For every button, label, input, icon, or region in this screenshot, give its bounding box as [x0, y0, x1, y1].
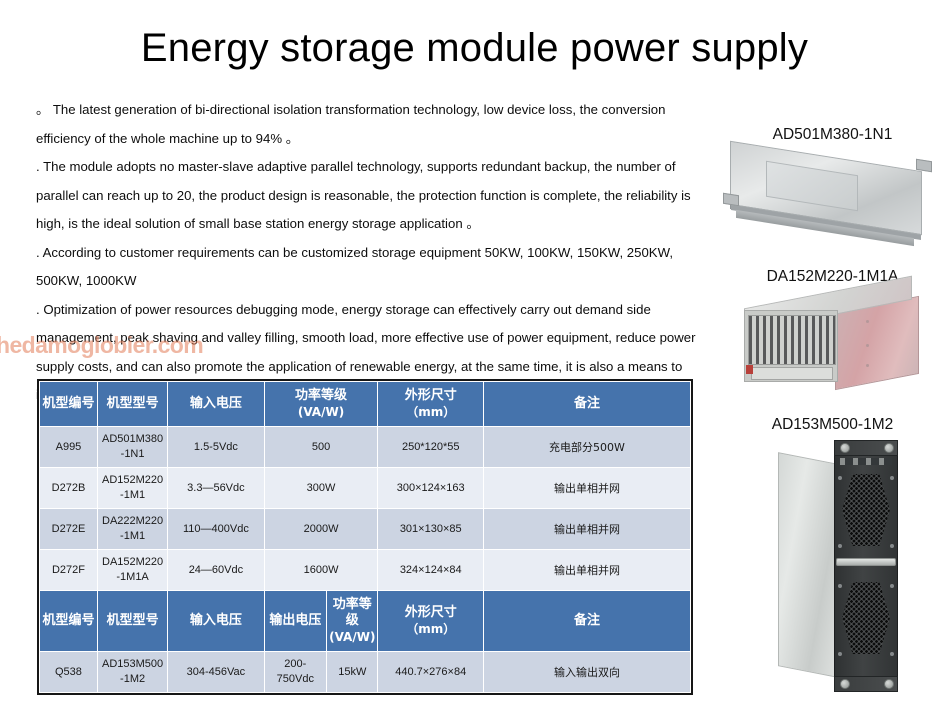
flat-silver-chassis-photo — [722, 148, 932, 248]
chassis-mount-tab-right — [916, 159, 932, 173]
cell-power-level: 300W — [264, 468, 378, 509]
cell-power-level: 1600W — [264, 550, 378, 591]
cell-remarks: 输入输出双向 — [483, 652, 690, 693]
header1-input-voltage: 输入电压 — [168, 382, 264, 427]
cell-power-level: 500 — [264, 427, 378, 468]
header2-power-level: 功率等级 (VA/W) — [327, 591, 378, 652]
paragraph-2: . The module adopts no master-slave adap… — [36, 153, 708, 239]
table-row: D272E DA222M220-1M1 110—400Vdc 2000W 301… — [40, 509, 691, 550]
header1-power-level-unit: (VA/W) — [267, 404, 376, 420]
panel-rivet — [890, 544, 894, 548]
panel-rivet — [838, 652, 842, 656]
module-screw — [866, 344, 869, 347]
cell-model-no: D272B — [40, 468, 98, 509]
paragraph-3: . According to customer requirements can… — [36, 239, 708, 296]
header2-model-type: 机型型号 — [97, 591, 167, 652]
cell-input-voltage: 110—400Vdc — [168, 509, 264, 550]
panel-rivet — [838, 544, 842, 548]
cell-dimensions: 250*120*55 — [378, 427, 483, 468]
cell-remarks: 输出单相并网 — [483, 468, 690, 509]
cell-dimensions: 440.7×276×84 — [378, 652, 483, 693]
panel-screw — [840, 679, 850, 689]
cell-model-no: A995 — [40, 427, 98, 468]
table-row: A995 AD501M380-1N1 1.5-5Vdc 500 250*120*… — [40, 427, 691, 468]
cell-remarks: 输出单相并网 — [483, 509, 690, 550]
table-header-row-1: 机型编号 机型型号 输入电压 功率等级 (VA/W) 外形尺寸 （mm） 备注 — [40, 382, 691, 427]
panel-rivet — [890, 652, 894, 656]
cell-power-level: 2000W — [264, 509, 378, 550]
tall-fan-module-photo — [778, 440, 946, 692]
status-led-strip — [840, 458, 892, 465]
panel-rivet — [838, 584, 842, 588]
product-label-1: AD501M380-1N1 — [718, 126, 947, 144]
ventilation-grille-icon — [748, 315, 836, 365]
header2-power-level-unit: (VA/W) — [329, 629, 375, 645]
cell-dimensions: 324×124×84 — [378, 550, 483, 591]
page-title: Energy storage module power supply — [0, 26, 949, 71]
cell-output-voltage: 200-750Vdc — [264, 652, 326, 693]
cell-model-type: DA152M220-1M1A — [97, 550, 167, 591]
module-screw — [866, 364, 869, 367]
cell-input-voltage: 24—60Vdc — [168, 550, 264, 591]
header2-output-voltage: 输出电压 — [264, 591, 326, 652]
cell-model-type: AD152M220-1M1 — [97, 468, 167, 509]
cell-model-no: Q538 — [40, 652, 98, 693]
panel-rivet — [890, 584, 894, 588]
table-row: D272F DA152M220-1M1A 24—60Vdc 1600W 324×… — [40, 550, 691, 591]
cell-power-level: 15kW — [327, 652, 378, 693]
header2-model-no: 机型编号 — [40, 591, 98, 652]
header1-power-level: 功率等级 (VA/W) — [264, 382, 378, 427]
header1-remarks: 备注 — [483, 382, 690, 427]
cell-input-voltage: 304-456Vac — [168, 652, 264, 693]
slide-page: Energy storage module power supply 。 The… — [0, 0, 949, 708]
header1-model-no: 机型编号 — [40, 382, 98, 427]
cell-remarks: 充电部分500W — [483, 427, 690, 468]
spec-table-frame: 机型编号 机型型号 输入电压 功率等级 (VA/W) 外形尺寸 （mm） 备注 … — [37, 379, 693, 695]
module-pull-handle — [836, 558, 896, 566]
cell-dimensions: 300×124×163 — [378, 468, 483, 509]
header2-dimensions-main: 外形尺寸 — [405, 605, 457, 620]
header1-dimensions-main: 外形尺寸 — [405, 388, 457, 403]
cell-model-type: AD501M380-1N1 — [97, 427, 167, 468]
header1-dimensions: 外形尺寸 （mm） — [378, 382, 483, 427]
table-row: D272B AD152M220-1M1 3.3—56Vdc 300W 300×1… — [40, 468, 691, 509]
header2-power-level-main: 功率等级 — [333, 597, 372, 628]
cell-dimensions: 301×130×85 — [378, 509, 483, 550]
header2-dimensions: 外形尺寸 （mm） — [378, 591, 483, 652]
paragraph-1: 。 The latest generation of bi-directiona… — [36, 96, 708, 153]
cell-model-no: D272F — [40, 550, 98, 591]
header2-dimensions-unit: （mm） — [380, 621, 480, 637]
spec-table: 机型编号 机型型号 输入电压 功率等级 (VA/W) 外形尺寸 （mm） 备注 … — [39, 381, 691, 693]
cell-remarks: 输出单相并网 — [483, 550, 690, 591]
module-connector-slot — [751, 367, 833, 380]
cell-model-type: AD153M500-1M2 — [97, 652, 167, 693]
module-screw — [866, 320, 869, 323]
panel-screw — [884, 679, 894, 689]
body-copy: 。 The latest generation of bi-directiona… — [36, 96, 708, 410]
product-label-2: DA152M220-1M1A — [718, 268, 947, 286]
cell-model-no: D272E — [40, 509, 98, 550]
table-header-row-2: 机型编号 机型型号 输入电压 输出电压 功率等级 (VA/W) 外形尺寸 （mm… — [40, 591, 691, 652]
header1-power-level-main: 功率等级 — [295, 388, 347, 403]
chassis-mount-tab-left — [723, 193, 739, 207]
cell-input-voltage: 1.5-5Vdc — [168, 427, 264, 468]
module-side-panel — [778, 452, 838, 678]
product-label-3: AD153M500-1M2 — [718, 416, 947, 434]
panel-rivet — [838, 476, 842, 480]
module-red-latch — [746, 365, 753, 374]
table-row: Q538 AD153M500-1M2 304-456Vac 200-750Vdc… — [40, 652, 691, 693]
header2-remarks: 备注 — [483, 591, 690, 652]
cell-model-type: DA222M220-1M1 — [97, 509, 167, 550]
header1-model-type: 机型型号 — [97, 382, 167, 427]
panel-screw — [884, 443, 894, 453]
panel-screw — [840, 443, 850, 453]
vented-rack-module-photo — [726, 292, 936, 388]
header1-dimensions-unit: （mm） — [380, 404, 480, 420]
panel-rivet — [890, 476, 894, 480]
header2-input-voltage: 输入电压 — [168, 591, 264, 652]
cell-input-voltage: 3.3—56Vdc — [168, 468, 264, 509]
module-front-face — [744, 310, 838, 382]
